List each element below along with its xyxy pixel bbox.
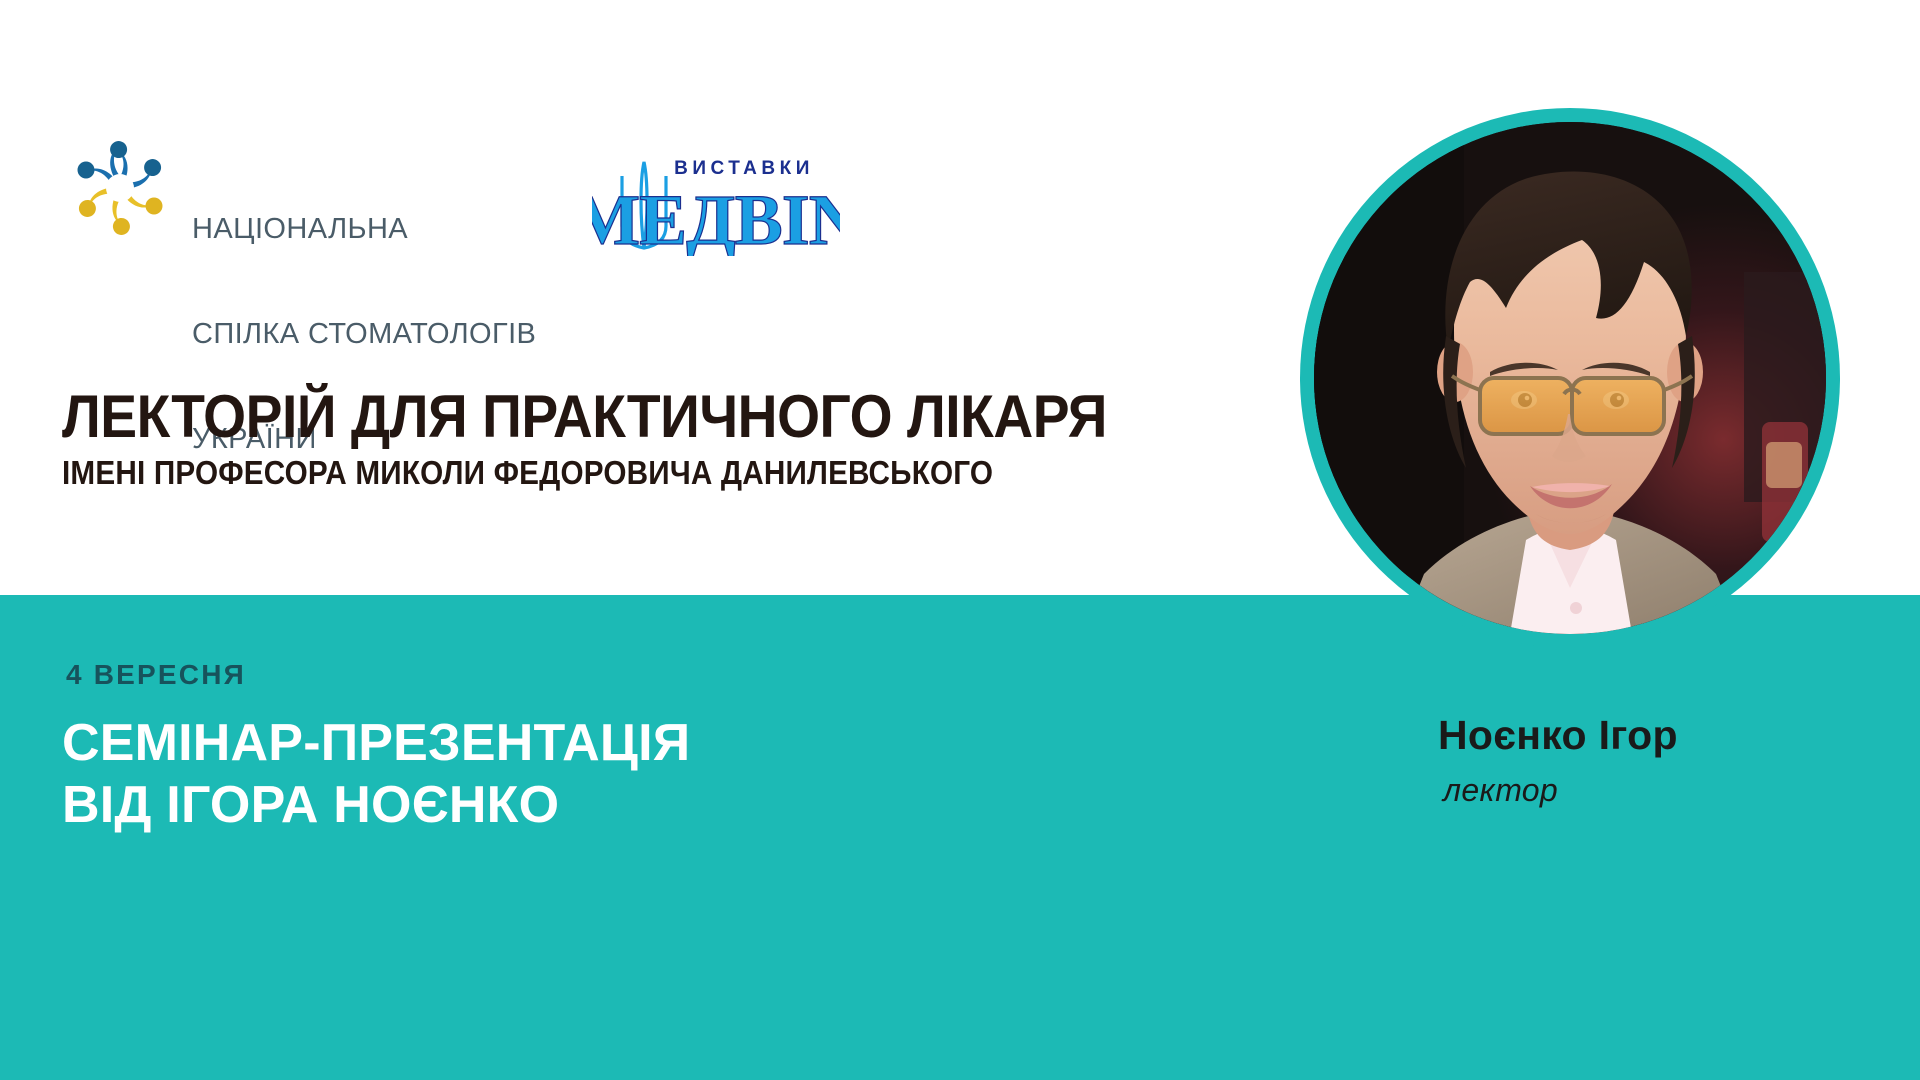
heading-block: ЛЕКТОРІЙ ДЛЯ ПРАКТИЧНОГО ЛІКАРЯ ІМЕНІ ПР… — [62, 385, 1332, 493]
medvin-wordmark: МЕДВІN — [592, 180, 840, 256]
teal-band — [0, 595, 1920, 1080]
page-subtitle: ІМЕНІ ПРОФЕСОРА МИКОЛИ ФЕДОРОВИЧА ДАНИЛЕ… — [62, 453, 1205, 493]
event-poster: НАЦІОНАЛЬНА СПІЛКА СТОМАТОЛОГІВ УКРАЇНИ … — [0, 0, 1920, 1080]
event-title: СЕМІНАР-ПРЕЗЕНТАЦІЯ ВІД ІГОРА НОЄНКО — [62, 712, 690, 836]
speaker-portrait-photo — [1314, 122, 1826, 634]
speaker-role: лектор — [1443, 772, 1558, 809]
event-title-line-1: СЕМІНАР-ПРЕЗЕНТАЦІЯ — [62, 712, 690, 774]
nssu-swirl-emblem-icon — [60, 128, 180, 248]
glasses-icon — [1452, 376, 1692, 434]
page-title: ЛЕКТОРІЙ ДЛЯ ПРАКТИЧНОГО ЛІКАРЯ — [62, 385, 1230, 449]
speaker-name: Ноєнко Ігор — [1438, 712, 1678, 759]
medvin-tagline: ВИСТАВКИ — [674, 158, 814, 179]
speaker-portrait-frame — [1300, 108, 1840, 648]
medvin-logo: ВИСТАВКИ МЕДВІN — [592, 148, 840, 256]
logo-row: НАЦІОНАЛЬНА СПІЛКА СТОМАТОЛОГІВ УКРАЇНИ … — [0, 120, 1100, 260]
nssu-logo-line-1: НАЦІОНАЛЬНА — [192, 212, 536, 247]
nssu-logo-line-2: СПІЛКА СТОМАТОЛОГІВ — [192, 317, 536, 352]
event-date: 4 ВЕРЕСНЯ — [66, 659, 246, 691]
event-title-line-2: ВІД ІГОРА НОЄНКО — [62, 774, 690, 836]
